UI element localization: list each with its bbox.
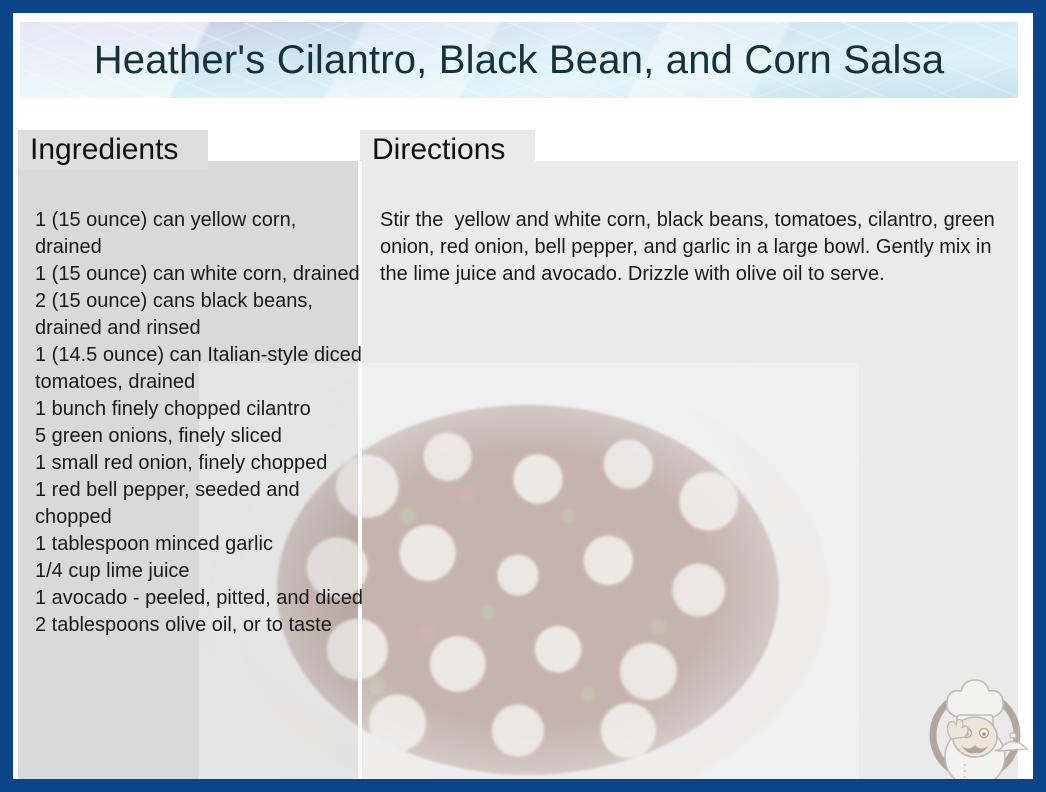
ingredient-item: 5 green onions, finely sliced xyxy=(35,423,365,450)
ingredient-item: 1 small red onion, finely chopped xyxy=(35,450,365,477)
ingredient-item: 2 tablespoons olive oil, or to taste xyxy=(35,612,365,639)
recipe-title: Heather's Cilantro, Black Bean, and Corn… xyxy=(20,22,1018,98)
directions-text: Stir the yellow and white corn, black be… xyxy=(380,207,998,288)
ingredient-item: 1 (15 ounce) can white corn, drained xyxy=(35,261,365,288)
ingredient-item: 1 bunch finely chopped cilantro xyxy=(35,396,365,423)
card-inner-frame: Heather's Cilantro, Black Bean, and Corn… xyxy=(13,13,1033,779)
ingredients-header-tab: Ingredients xyxy=(18,130,208,170)
ingredients-heading: Ingredients xyxy=(30,133,178,167)
ingredient-item: 2 (15 ounce) cans black beans, drained a… xyxy=(35,288,365,342)
ingredient-item: 1 tablespoon minced garlic xyxy=(35,531,365,558)
ingredient-item: 1 (15 ounce) can yellow corn, drained xyxy=(35,207,365,261)
ingredient-item: 1 red bell pepper, seeded and chopped xyxy=(35,477,365,531)
ingredient-item: 1/4 cup lime juice xyxy=(35,558,365,585)
ingredient-item: 1 avocado - peeled, pitted, and diced xyxy=(35,585,365,612)
ingredient-item: 1 (14.5 ounce) can Italian-style diced t… xyxy=(35,342,365,396)
directions-header-tab: Directions xyxy=(360,130,535,170)
recipe-card: Heather's Cilantro, Black Bean, and Corn… xyxy=(0,0,1046,792)
directions-heading: Directions xyxy=(372,133,505,167)
ingredients-list: 1 (15 ounce) can yellow corn, drained1 (… xyxy=(35,207,365,639)
title-banner: Heather's Cilantro, Black Bean, and Corn… xyxy=(20,22,1018,98)
